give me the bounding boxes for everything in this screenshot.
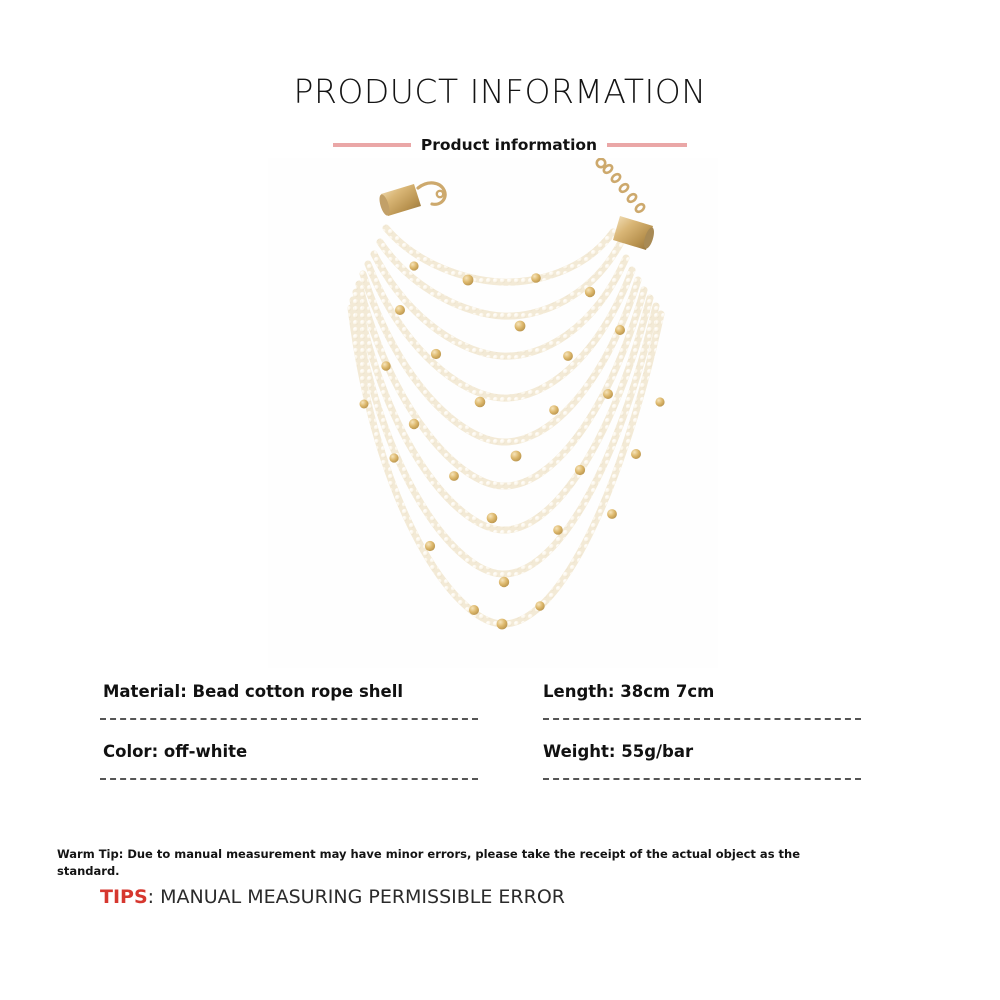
- spec-divider-left: [100, 718, 478, 720]
- tips-label: TIPS: [100, 886, 148, 908]
- spec-divider-left: [100, 778, 478, 780]
- spec-divider-right: [543, 778, 861, 780]
- spec-weight: Weight: 55g/bar: [543, 742, 693, 761]
- tips-line: TIPS: MANUAL MEASURING PERMISSIBLE ERROR: [100, 886, 565, 908]
- subtitle-rule-right: [607, 143, 687, 147]
- spec-material: Material: Bead cotton rope shell: [103, 682, 403, 701]
- spec-row: Color: off-white Weight: 55g/bar: [0, 736, 1000, 796]
- warm-tip-text: Warm Tip: Due to manual measurement may …: [57, 846, 817, 880]
- subtitle-rule-left: [333, 143, 411, 147]
- product-specs: Material: Bead cotton rope shell Length:…: [0, 676, 1000, 796]
- page-title: PRODUCT INFORMATION: [0, 72, 1000, 111]
- tips-message: MANUAL MEASURING PERMISSIBLE ERROR: [154, 886, 565, 908]
- product-image: [268, 158, 718, 668]
- subtitle-text: Product information: [421, 136, 597, 154]
- spec-length: Length: 38cm 7cm: [543, 682, 714, 701]
- subtitle-row: Product information: [335, 134, 685, 156]
- spec-divider-right: [543, 718, 861, 720]
- necklace-illustration: [268, 158, 718, 668]
- spec-color: Color: off-white: [103, 742, 247, 761]
- spec-row: Material: Bead cotton rope shell Length:…: [0, 676, 1000, 736]
